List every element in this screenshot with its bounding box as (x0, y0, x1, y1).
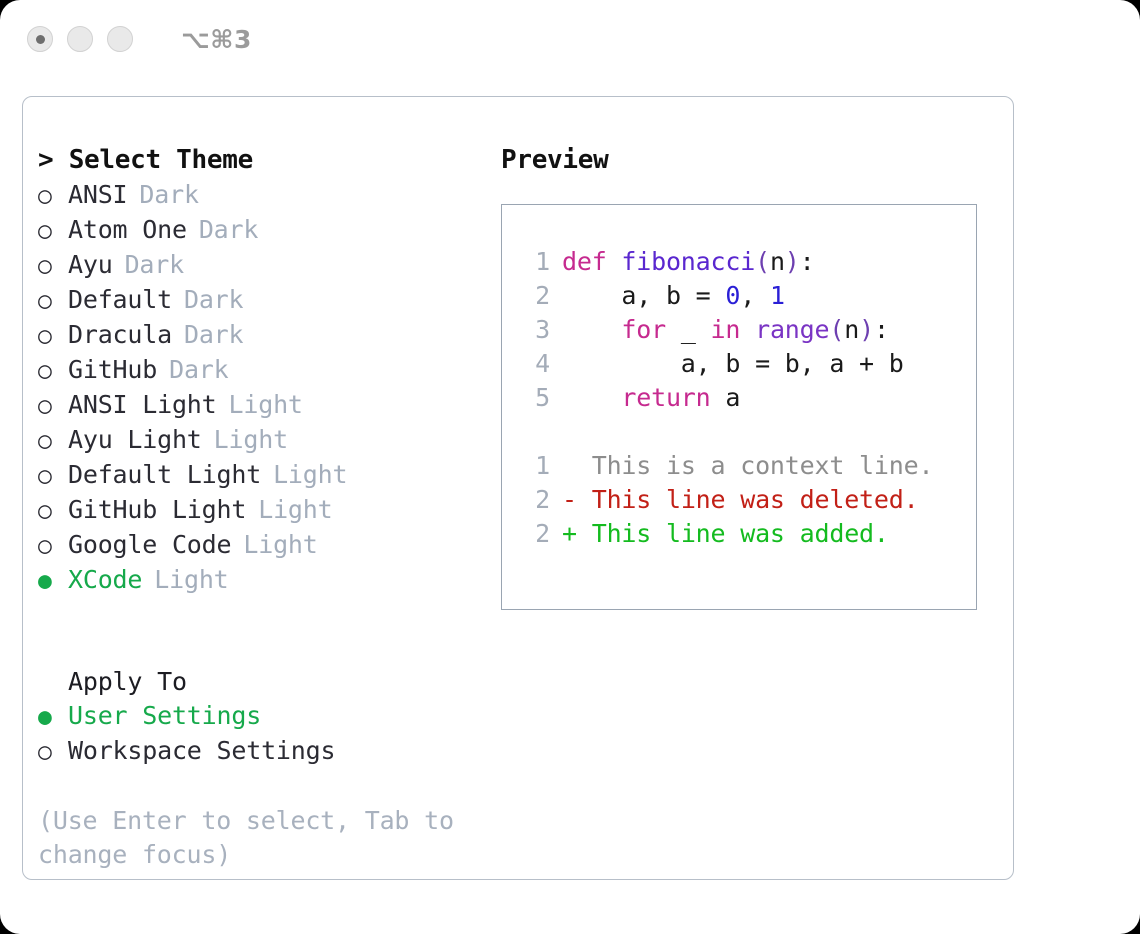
theme-option-tag: Light (229, 388, 303, 422)
window-dot-active[interactable] (27, 26, 53, 52)
diff-line-del: 2- This line was deleted. (522, 483, 976, 517)
diff-text: This is a context line. (592, 451, 934, 480)
preview-box: 1def fibonacci(n):2 a, b = 0, 13 for _ i… (501, 204, 977, 610)
window-dot-3[interactable] (107, 26, 133, 52)
theme-option-label: Atom One (68, 213, 187, 247)
radio-selected-icon: ● (38, 564, 68, 598)
diff-line-number: 1 (522, 449, 562, 483)
radio-unselected-icon: ○ (38, 249, 68, 283)
radio-unselected-icon: ○ (38, 494, 68, 528)
diff-line-number: 2 (522, 517, 562, 551)
code-line: 2 a, b = 0, 1 (522, 279, 976, 313)
code-token-punct: ( (755, 247, 770, 276)
theme-option-label: ANSI (68, 178, 127, 212)
theme-option-label: ANSI Light (68, 388, 217, 422)
theme-option-dracula[interactable]: ○DraculaDark (38, 318, 488, 353)
diff-text: This line was deleted. (592, 485, 919, 514)
theme-option-xcode[interactable]: ●XCodeLight (38, 563, 488, 598)
theme-option-github[interactable]: ○GitHubDark (38, 353, 488, 388)
keyboard-hint-text: (Use Enter to select, Tab to change focu… (38, 804, 458, 872)
code-line-content: a, b = 0, 1 (562, 279, 785, 313)
code-line-content: a, b = b, a + b (562, 347, 904, 381)
code-line-number: 5 (522, 381, 562, 415)
code-token-plain: a, b = (562, 281, 725, 310)
theme-option-label: Ayu Light (68, 423, 202, 457)
theme-selection-column: > Select Theme ○ANSIDark○Atom OneDark○Ay… (38, 143, 488, 872)
code-token-num: 1 (770, 281, 785, 310)
theme-option-google-code[interactable]: ○Google CodeLight (38, 528, 488, 563)
theme-option-default-light[interactable]: ○Default LightLight (38, 458, 488, 493)
radio-unselected-icon: ○ (38, 354, 68, 388)
diff-sample: 1 This is a context line.2- This line wa… (522, 449, 976, 551)
code-line: 5 return a (522, 381, 976, 415)
code-token-punct: ( (829, 315, 844, 344)
diff-sign (562, 451, 577, 480)
app-window: ⌥⌘3 > Select Theme ○ANSIDark○Atom OneDar… (0, 0, 1140, 934)
theme-option-ansi[interactable]: ○ANSIDark (38, 178, 488, 213)
theme-option-tag: Dark (169, 353, 228, 387)
code-line-number: 2 (522, 279, 562, 313)
code-line: 3 for _ in range(n): (522, 313, 976, 347)
code-line-number: 4 (522, 347, 562, 381)
code-token-kw: def (562, 247, 621, 276)
radio-unselected-icon: ○ (38, 735, 68, 769)
apply-to-section: Apply To ●User Settings○Workspace Settin… (38, 665, 488, 769)
theme-option-label: Dracula (68, 318, 172, 352)
diff-sign: - (562, 485, 577, 514)
theme-option-tag: Light (214, 423, 288, 457)
theme-option-tag: Dark (199, 213, 258, 247)
theme-option-label: Default (68, 283, 172, 317)
code-token-plain (562, 383, 621, 412)
preview-column: Preview 1def fibonacci(n):2 a, b = 0, 13… (501, 143, 1001, 610)
code-token-plain: : (800, 247, 815, 276)
code-token-fn: fibonacci (621, 247, 755, 276)
code-token-punct: ) (859, 315, 874, 344)
active-dot-indicator (36, 35, 45, 44)
theme-option-tag: Dark (139, 178, 198, 212)
theme-option-tag: Dark (125, 248, 184, 282)
diff-line-number: 2 (522, 483, 562, 517)
radio-unselected-icon: ○ (38, 389, 68, 423)
theme-option-label: Google Code (68, 528, 231, 562)
title-bar: ⌥⌘3 (0, 0, 1140, 78)
theme-option-tag: Light (273, 458, 347, 492)
theme-option-tag: Light (243, 528, 317, 562)
code-line-content: return a (562, 381, 740, 415)
theme-option-ansi-light[interactable]: ○ANSI LightLight (38, 388, 488, 423)
code-token-punct: ) (785, 247, 800, 276)
code-sample: 1def fibonacci(n):2 a, b = 0, 13 for _ i… (522, 245, 976, 415)
theme-option-label: Ayu (68, 248, 113, 282)
apply-to-option-label: User Settings (68, 699, 261, 733)
code-token-plain: n (844, 315, 859, 344)
theme-option-label: GitHub Light (68, 493, 246, 527)
code-token-kw: for (621, 315, 666, 344)
theme-option-list: ○ANSIDark○Atom OneDark○AyuDark○DefaultDa… (38, 178, 488, 598)
radio-unselected-icon: ○ (38, 179, 68, 213)
theme-option-tag: Dark (184, 318, 243, 352)
theme-option-label: XCode (68, 563, 142, 597)
code-token-plain: a, b = b, a + b (562, 349, 904, 378)
code-line-content: def fibonacci(n): (562, 245, 815, 279)
diff-text: This line was added. (592, 519, 889, 548)
radio-unselected-icon: ○ (38, 319, 68, 353)
code-line-number: 1 (522, 245, 562, 279)
code-token-plain (562, 315, 621, 344)
diff-line-add: 2+ This line was added. (522, 517, 976, 551)
preview-spacer (522, 415, 976, 449)
code-line-number: 3 (522, 313, 562, 347)
diff-line-content: + This line was added. (562, 517, 889, 551)
radio-unselected-icon: ○ (38, 529, 68, 563)
code-token-builtin: range (755, 315, 829, 344)
apply-to-option-user-settings[interactable]: ●User Settings (38, 699, 488, 734)
code-line-content: for _ in range(n): (562, 313, 889, 347)
keyboard-shortcut-label: ⌥⌘3 (181, 25, 252, 54)
code-token-plain (740, 315, 755, 344)
theme-option-ayu-light[interactable]: ○Ayu LightLight (38, 423, 488, 458)
main-panel: > Select Theme ○ANSIDark○Atom OneDark○Ay… (22, 96, 1014, 880)
radio-unselected-icon: ○ (38, 424, 68, 458)
preview-title: Preview (501, 143, 1001, 177)
theme-option-github-light[interactable]: ○GitHub LightLight (38, 493, 488, 528)
theme-option-default[interactable]: ○DefaultDark (38, 283, 488, 318)
code-token-plain: : (874, 315, 889, 344)
diff-line-content: This is a context line. (562, 449, 933, 483)
code-token-plain: _ (666, 315, 711, 344)
radio-unselected-icon: ○ (38, 459, 68, 493)
theme-option-tag: Light (258, 493, 332, 527)
diff-sign: + (562, 519, 577, 548)
code-token-kw: in (711, 315, 741, 344)
diff-line-context: 1 This is a context line. (522, 449, 976, 483)
select-theme-header: > Select Theme (38, 143, 488, 177)
apply-to-title: Apply To (38, 665, 488, 699)
radio-unselected-icon: ○ (38, 284, 68, 318)
code-token-kw: return (621, 383, 710, 412)
theme-option-atom-one[interactable]: ○Atom OneDark (38, 213, 488, 248)
code-line: 4 a, b = b, a + b (522, 347, 976, 381)
apply-to-option-list: ●User Settings○Workspace Settings (38, 699, 488, 769)
code-token-num: 0 (725, 281, 740, 310)
theme-option-label: GitHub (68, 353, 157, 387)
code-token-plain: , (740, 281, 770, 310)
theme-option-ayu[interactable]: ○AyuDark (38, 248, 488, 283)
theme-option-tag: Light (154, 563, 228, 597)
diff-line-content: - This line was deleted. (562, 483, 918, 517)
theme-option-label: Default Light (68, 458, 261, 492)
code-token-plain: a (711, 383, 741, 412)
apply-to-option-label: Workspace Settings (68, 734, 335, 768)
apply-to-option-workspace-settings[interactable]: ○Workspace Settings (38, 734, 488, 769)
theme-option-tag: Dark (184, 283, 243, 317)
radio-unselected-icon: ○ (38, 214, 68, 248)
code-line: 1def fibonacci(n): (522, 245, 976, 279)
radio-selected-icon: ● (38, 700, 68, 734)
window-dot-2[interactable] (67, 26, 93, 52)
code-token-plain: n (770, 247, 785, 276)
